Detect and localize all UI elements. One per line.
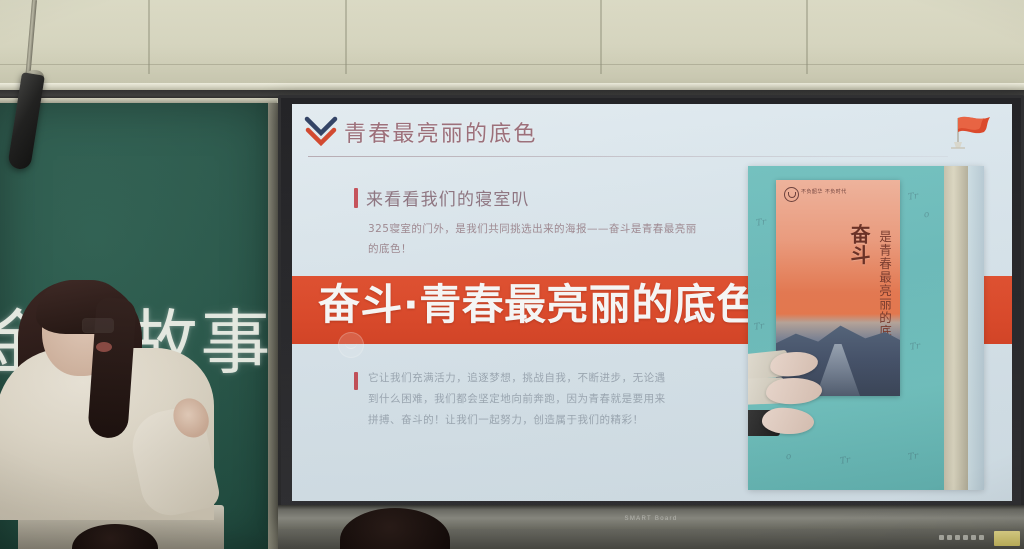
door-frame xyxy=(944,166,968,490)
display-sticker xyxy=(994,531,1020,546)
red-flag-icon xyxy=(948,112,994,152)
body-accent-bar xyxy=(354,372,358,390)
ceiling-wall-panel xyxy=(0,0,1024,86)
section-accent-bar xyxy=(354,188,358,208)
door-doodle: Tr xyxy=(755,217,767,228)
dorm-door-poster-photo: Tr Tr o Tr Tr o Tr Tr 不负韶华 不负时代 奋斗 是青春最亮… xyxy=(748,166,984,490)
banner-headline: 奋斗·青春最亮丽的底色 xyxy=(318,284,759,326)
poster-logo-text: 不负韶华 不负时代 xyxy=(801,188,847,195)
door-background-wall xyxy=(968,166,984,490)
title-underline xyxy=(308,156,948,157)
door-doodle: Tr xyxy=(839,455,851,466)
body-paragraph: 它让我们充满活力，追逐梦想，挑战自我，不断进步，无论遇到什么困难，我们都会坚定地… xyxy=(368,368,666,431)
glasses-icon xyxy=(82,318,114,333)
display-port-strip xyxy=(939,535,984,540)
presenting-student xyxy=(0,280,226,520)
lead-paragraph: 325寝室的门外，是我们共同挑选出来的海报——奋斗是青春最亮丽的底色！ xyxy=(368,219,698,260)
watermark-logo-icon xyxy=(338,332,364,358)
mouth xyxy=(96,342,112,352)
poster-emblem-icon xyxy=(784,187,799,202)
door-doodle: Tr xyxy=(753,321,765,332)
door-doodle: o xyxy=(923,210,930,221)
door-doodle: Tr xyxy=(907,191,919,202)
poster-main-text: 奋斗 xyxy=(845,224,874,265)
section-heading: 来看看我们的寝室叭 xyxy=(366,185,530,210)
presentation-slide[interactable]: 青春最亮丽的底色 来看看我们的寝室叭 325寝室的门外，是我们共同挑选出来的海报… xyxy=(292,104,1012,501)
screenshot-stage: 金勾故事 青春最亮丽的底色 来看看我们的寝室 xyxy=(0,0,1024,549)
door-doodle: o xyxy=(785,452,792,463)
door-doodle: Tr xyxy=(907,451,919,462)
double-chevron-icon xyxy=(304,116,338,152)
slide-title: 青春最亮丽的底色 xyxy=(344,116,538,148)
door-doodle: Tr xyxy=(909,341,921,352)
